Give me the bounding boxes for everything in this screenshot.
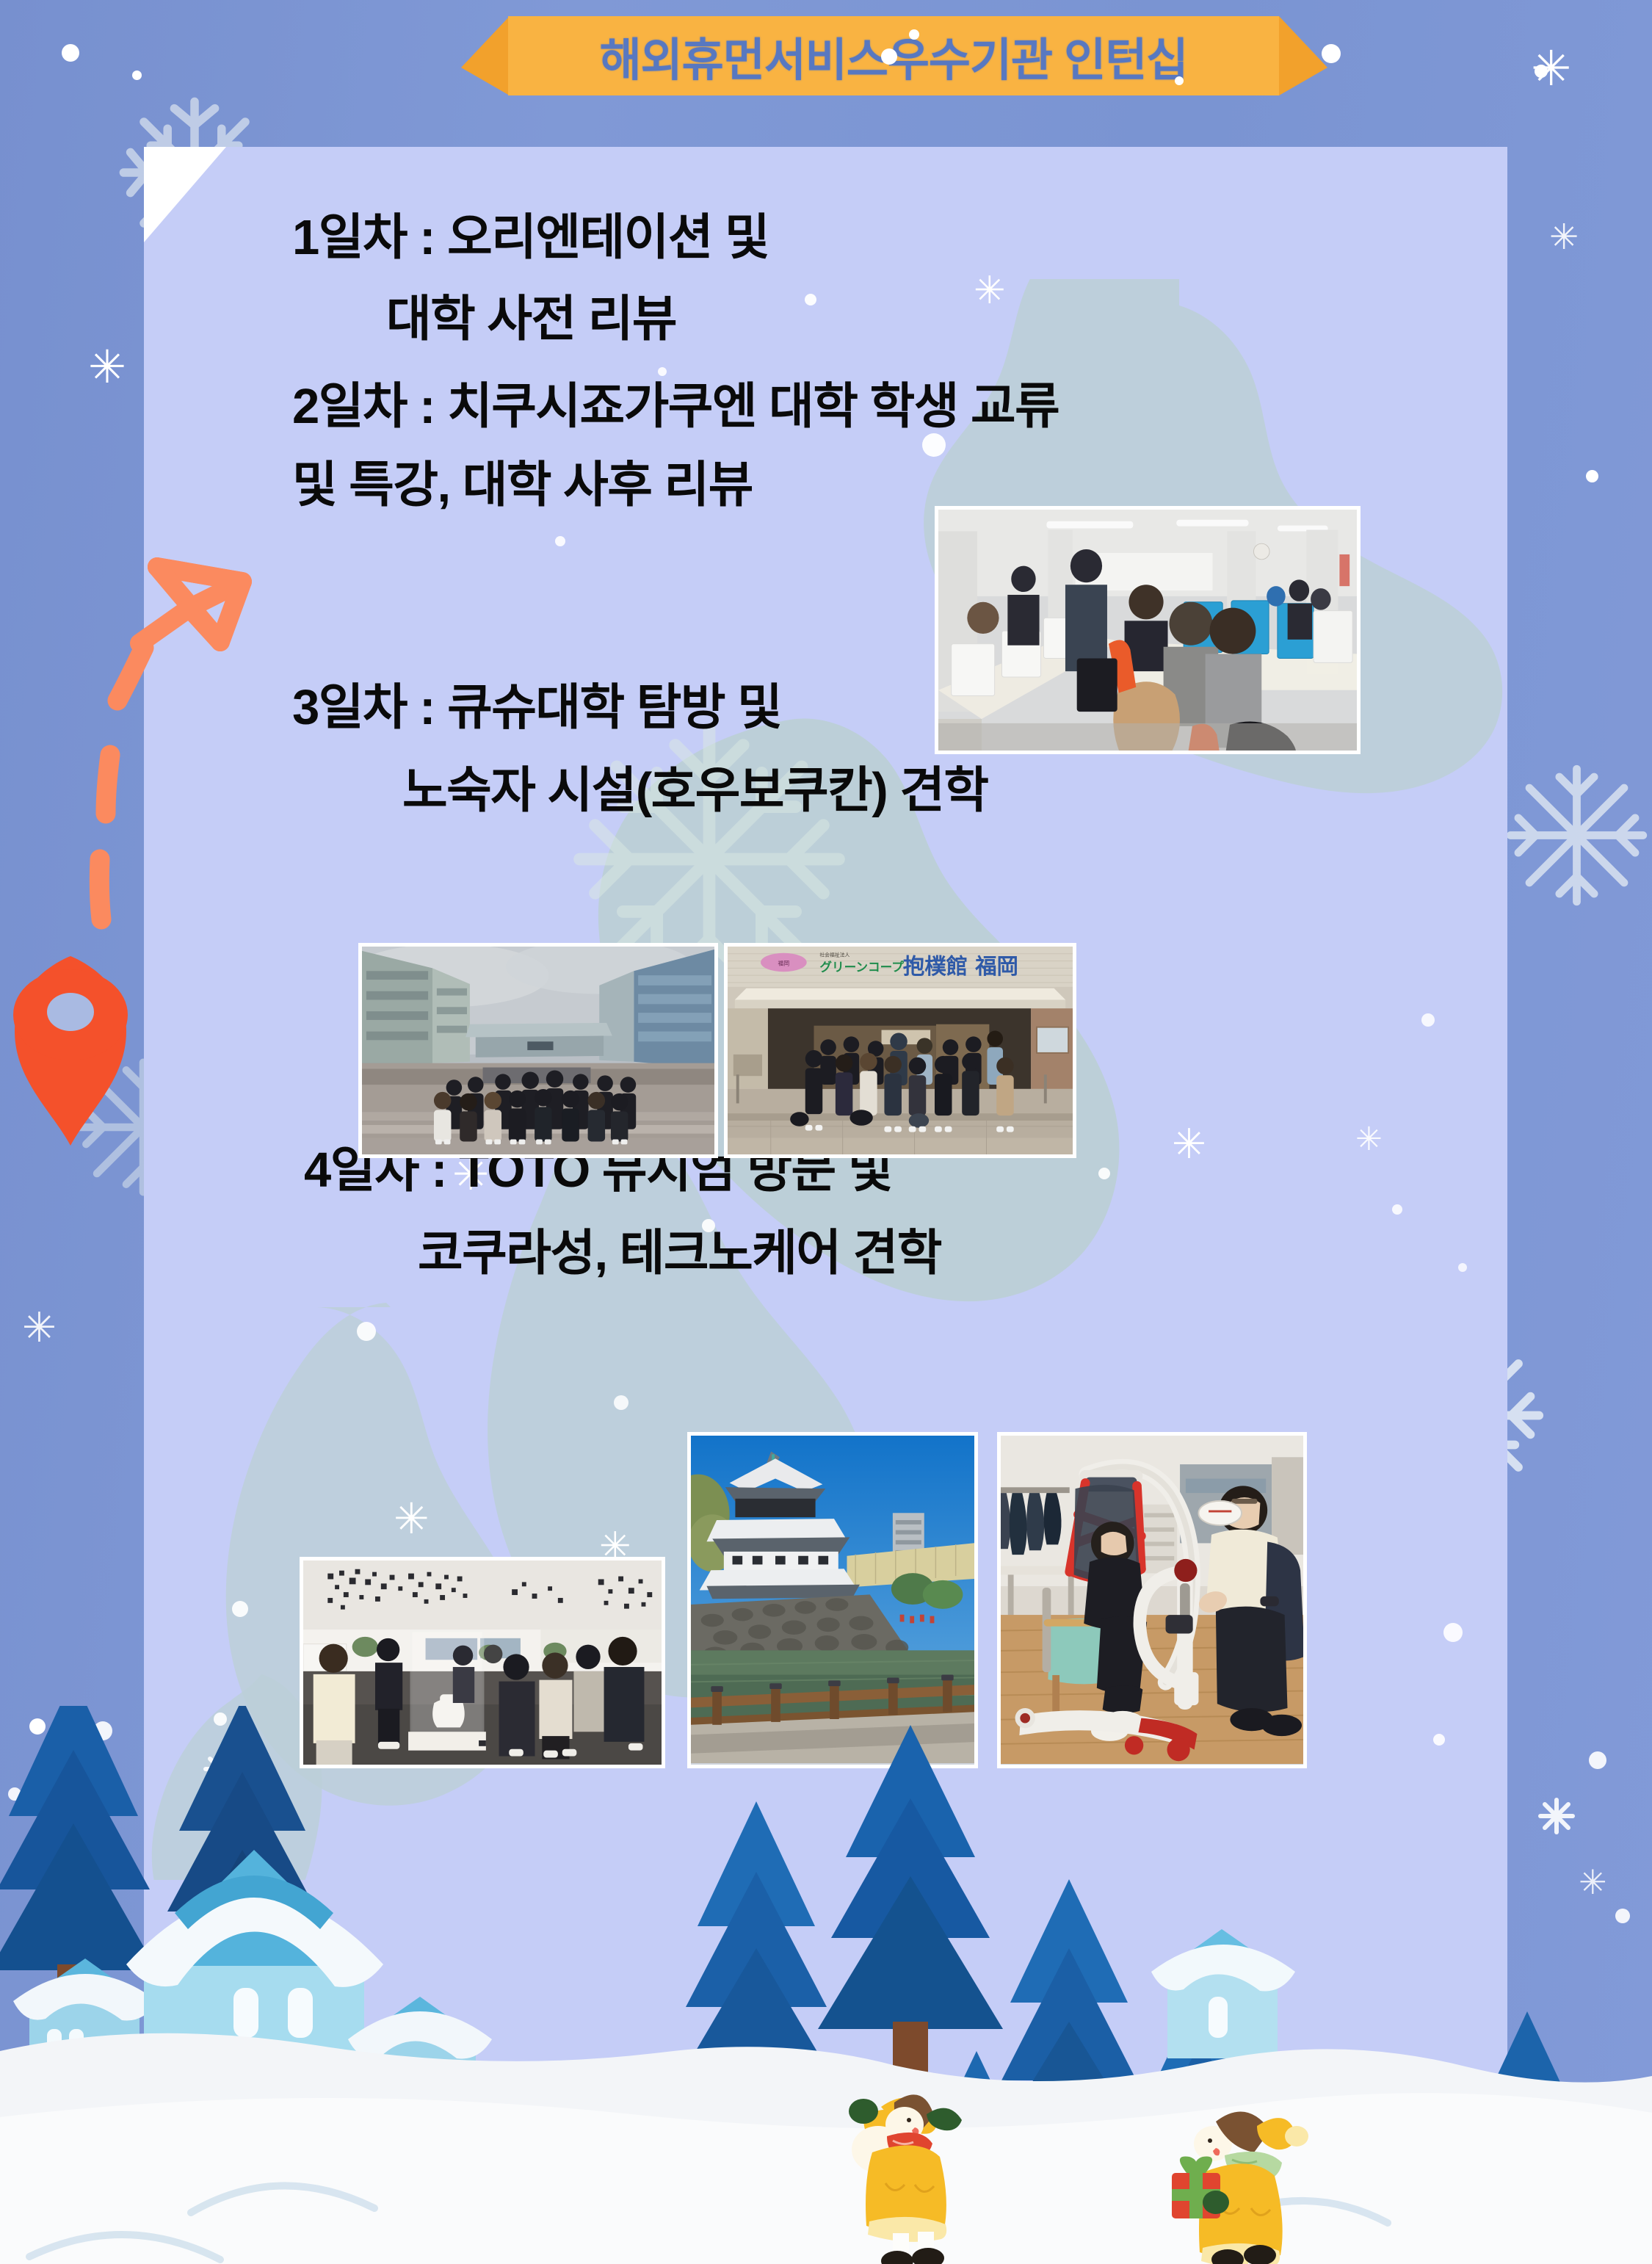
snowflake-icon: ✳ (1355, 1124, 1383, 1156)
day4-line2: 코쿠라성, 테크노케어 견학 (304, 1229, 941, 1278)
snow-dot (1392, 1204, 1402, 1215)
snowflake-icon: ✳ (974, 272, 1006, 310)
dashed-route-path (99, 648, 144, 919)
day3-line1: 3일차 : 큐슈대학 탐방 및 (292, 683, 988, 732)
day3-line2: 노숙자 시설(호우보쿠칸) 견학 (292, 766, 988, 815)
toto-museum-exhibit-photo (300, 1557, 665, 1768)
snow-dot (805, 294, 816, 305)
svg-text:福岡: 福岡 (778, 960, 790, 966)
ribbon-tail-left (461, 16, 510, 95)
day1-text-block: 1일차 : 오리엔테이션 및 대학 사전 리뷰 (292, 213, 769, 344)
snow-dot (132, 70, 142, 80)
snowflake-icon (1498, 756, 1652, 914)
snowflake-icon: ✳ (1579, 1865, 1607, 1899)
svg-text:抱樸館 福岡: 抱樸館 福岡 (903, 954, 1018, 979)
computer-lab-exchange-photo (935, 506, 1361, 754)
snow-dot (357, 1322, 376, 1341)
snowflake-icon: ✳ (1172, 1124, 1206, 1165)
snowflake-icon: ✳ (22, 1307, 57, 1348)
snow-dot (62, 44, 79, 62)
svg-text:グリーンコープ: グリーンコープ (819, 959, 904, 974)
snowflake-icon: ✳ (1531, 44, 1571, 93)
day2-line1: 2일차 : 치쿠시죠가쿠엔 대학 학생 교류 (292, 382, 1059, 431)
day2-line2: 및 특강, 대학 사후 리뷰 (292, 460, 1059, 510)
snow-dot (1443, 1623, 1463, 1642)
snow-dot (29, 1718, 46, 1735)
technocare-patient-lift-photo (997, 1432, 1307, 1768)
snow-dot (1421, 1013, 1435, 1027)
day4-text-block: 4일차 : TOTO 뮤지엄 방문 및 코쿠라성, 테크노케어 견학 (304, 1146, 941, 1278)
snowflake-icon: ✳ (1549, 220, 1579, 256)
poster-title: 해외휴먼서비스우수기관 인턴십 (508, 16, 1279, 95)
kyushu-university-group-photo (358, 943, 718, 1158)
svg-text:社会福祉法人: 社会福祉法人 (819, 952, 849, 958)
kokura-castle-photo (687, 1432, 978, 1768)
day1-line2: 대학 사전 리뷰 (292, 294, 769, 344)
snow-dot (658, 367, 667, 376)
day2-text-block: 2일차 : 치쿠시죠가쿠엔 대학 학생 교류 및 특강, 대학 사후 리뷰 (292, 382, 1059, 510)
snow-dot (1586, 470, 1598, 482)
day3-text-block: 3일차 : 큐슈대학 탐방 및 노숙자 시설(호우보쿠칸) 견학 (292, 683, 988, 815)
houbokukan-entrance-group-photo: 福岡 社会福祉法人 グリーンコープ 抱樸館 福岡 (724, 943, 1076, 1158)
poster-root: ✳ ✳ ✳ ✳ ✳ ✳ ✳ (0, 0, 1652, 2264)
snow-dot (1098, 1168, 1110, 1179)
snowflake-icon: ✳ (88, 345, 126, 391)
snowflake-icon: ✳ (394, 1498, 430, 1541)
ribbon-tail-right (1279, 16, 1327, 95)
snow-dot (555, 536, 565, 546)
snow-dot (614, 1395, 628, 1410)
day1-line1: 1일차 : 오리엔테이션 및 (292, 213, 769, 262)
content-panel: ✳ ✳ ✳ ✳ ✳ ✳ 1일차 : 오리엔테이션 및 대학 사전 리뷰 2일차 … (144, 147, 1507, 2264)
map-pin-icon (13, 955, 128, 1146)
snow-dot (1458, 1263, 1467, 1272)
snow-dot (1535, 65, 1548, 78)
snow-dot (232, 1601, 248, 1617)
corner-notch (144, 147, 226, 242)
